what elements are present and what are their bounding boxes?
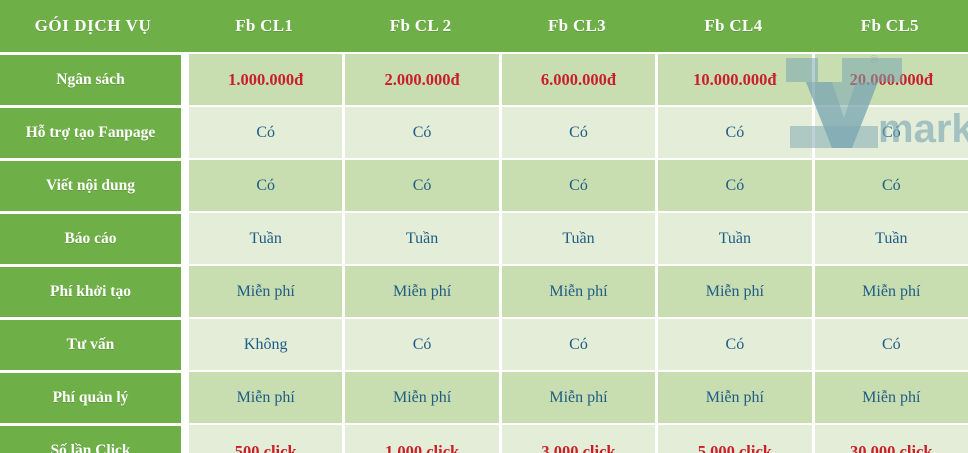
table-cell: Tuần xyxy=(812,211,968,264)
table-cell: Có xyxy=(186,105,342,158)
table-cell: Miễn phí xyxy=(186,264,342,317)
table-cell: Có xyxy=(655,317,811,370)
table-cell: Có xyxy=(342,105,498,158)
table-row: Phí quản lýMiễn phíMiễn phíMiễn phíMiễn … xyxy=(0,370,968,423)
column-header-feature: GÓI DỊCH VỤ xyxy=(0,0,186,52)
column-header-package-cl5: Fb CL5 xyxy=(812,0,968,52)
table-cell: Có xyxy=(499,317,655,370)
table-cell: Miễn phí xyxy=(342,264,498,317)
row-label-cell: Hỗ trợ tạo Fanpage xyxy=(0,105,186,158)
table-row: Viết nội dungCóCóCóCóCó xyxy=(0,158,968,211)
table-cell: Có xyxy=(499,158,655,211)
column-header-package-cl3: Fb CL3 xyxy=(499,0,655,52)
table-cell: 3.000 click xyxy=(499,423,655,453)
table-cell: Có xyxy=(342,317,498,370)
table-body: Ngân sách1.000.000đ2.000.000đ6.000.000đ1… xyxy=(0,52,968,453)
table-cell: 6.000.000đ xyxy=(499,52,655,105)
table-cell: 5.000 click xyxy=(655,423,811,453)
table-cell: Tuần xyxy=(655,211,811,264)
table-cell: Miễn phí xyxy=(342,370,498,423)
table-cell: 2.000.000đ xyxy=(342,52,498,105)
table-row: Tư vấnKhôngCóCóCóCó xyxy=(0,317,968,370)
table-cell: Tuần xyxy=(342,211,498,264)
table-cell: Tuần xyxy=(499,211,655,264)
table-row: Số lần Click500 click1.000 click3.000 cl… xyxy=(0,423,968,453)
service-package-pricing-table: GÓI DỊCH VỤ Fb CL1 Fb CL 2 Fb CL3 Fb CL4… xyxy=(0,0,968,453)
table-cell: Miễn phí xyxy=(499,264,655,317)
table-cell: Có xyxy=(655,158,811,211)
pricing-table-container: GÓI DỊCH VỤ Fb CL1 Fb CL 2 Fb CL3 Fb CL4… xyxy=(0,0,968,453)
row-label-cell: Phí quản lý xyxy=(0,370,186,423)
table-row: Ngân sách1.000.000đ2.000.000đ6.000.000đ1… xyxy=(0,52,968,105)
table-cell: Có xyxy=(342,158,498,211)
table-cell: Có xyxy=(655,105,811,158)
row-label-cell: Phí khởi tạo xyxy=(0,264,186,317)
table-cell: 20.000.000đ xyxy=(812,52,968,105)
column-header-package-cl2: Fb CL 2 xyxy=(342,0,498,52)
table-cell: Miễn phí xyxy=(655,370,811,423)
row-label-cell: Viết nội dung xyxy=(0,158,186,211)
table-cell: 10.000.000đ xyxy=(655,52,811,105)
table-cell: Miễn phí xyxy=(812,264,968,317)
table-cell: Miễn phí xyxy=(812,370,968,423)
row-label-cell: Tư vấn xyxy=(0,317,186,370)
table-cell: Không xyxy=(186,317,342,370)
row-label-cell: Số lần Click xyxy=(0,423,186,453)
table-cell: Có xyxy=(812,105,968,158)
column-header-package-cl1: Fb CL1 xyxy=(186,0,342,52)
table-cell: Miễn phí xyxy=(655,264,811,317)
table-row: Báo cáoTuầnTuầnTuầnTuầnTuần xyxy=(0,211,968,264)
table-header: GÓI DỊCH VỤ Fb CL1 Fb CL 2 Fb CL3 Fb CL4… xyxy=(0,0,968,52)
table-cell: 500 click xyxy=(186,423,342,453)
table-cell: Có xyxy=(812,158,968,211)
table-cell: 30.000 click xyxy=(812,423,968,453)
table-cell: Tuần xyxy=(186,211,342,264)
table-row: Hỗ trợ tạo FanpageCóCóCóCóCó xyxy=(0,105,968,158)
column-header-package-cl4: Fb CL4 xyxy=(655,0,811,52)
table-cell: Có xyxy=(499,105,655,158)
table-cell: Miễn phí xyxy=(499,370,655,423)
table-cell: 1.000.000đ xyxy=(186,52,342,105)
table-row: Phí khởi tạoMiễn phíMiễn phíMiễn phíMiễn… xyxy=(0,264,968,317)
table-cell: 1.000 click xyxy=(342,423,498,453)
table-cell: Có xyxy=(812,317,968,370)
table-cell: Miễn phí xyxy=(186,370,342,423)
header-row: GÓI DỊCH VỤ Fb CL1 Fb CL 2 Fb CL3 Fb CL4… xyxy=(0,0,968,52)
row-label-cell: Báo cáo xyxy=(0,211,186,264)
row-label-cell: Ngân sách xyxy=(0,52,186,105)
table-cell: Có xyxy=(186,158,342,211)
